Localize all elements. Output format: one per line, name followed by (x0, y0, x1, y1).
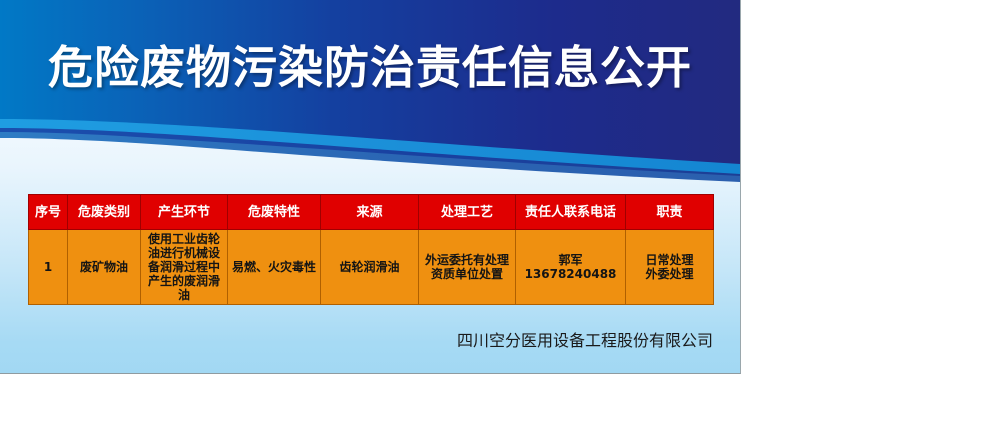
page-title: 危险废物污染防治责任信息公开 (0, 42, 740, 94)
cell-source: 齿轮润滑油 (321, 230, 419, 305)
hazardous-waste-table: 序号 危废类别 产生环节 危废特性 来源 处理工艺 责任人联系电话 职责 1 废… (28, 194, 714, 305)
column-header-seq: 序号 (29, 195, 68, 230)
company-name: 四川空分医用设备工程股份有限公司 (0, 327, 713, 351)
contact-person-phone: 13678240488 (518, 267, 623, 281)
column-header-source: 来源 (321, 195, 419, 230)
cell-contact: 郭军 13678240488 (516, 230, 626, 305)
column-header-property: 危废特性 (228, 195, 321, 230)
duty-line-1: 日常处理 (628, 253, 711, 267)
duty-line-2: 外委处理 (628, 267, 711, 281)
column-header-category: 危废类别 (68, 195, 141, 230)
column-header-contact: 责任人联系电话 (516, 195, 626, 230)
table-header-row: 序号 危废类别 产生环节 危废特性 来源 处理工艺 责任人联系电话 职责 (29, 195, 714, 230)
column-header-duty: 职责 (626, 195, 714, 230)
cell-process: 外运委托有处理资质单位处置 (419, 230, 516, 305)
table-row: 1 废矿物油 使用工业齿轮油进行机械设备润滑过程中产生的废润滑油 易燃、火灾毒性… (29, 230, 714, 305)
cell-category: 废矿物油 (68, 230, 141, 305)
column-header-stage: 产生环节 (141, 195, 228, 230)
cell-duty: 日常处理 外委处理 (626, 230, 714, 305)
header-banner: 危险废物污染防治责任信息公开 (0, 0, 740, 185)
column-header-process: 处理工艺 (419, 195, 516, 230)
cell-seq: 1 (29, 230, 68, 305)
contact-person-name: 郭军 (518, 253, 623, 267)
cell-stage: 使用工业齿轮油进行机械设备润滑过程中产生的废润滑油 (141, 230, 228, 305)
cell-property: 易燃、火灾毒性 (228, 230, 321, 305)
poster-board: 危险废物污染防治责任信息公开 序号 危废类别 产生环节 危废特性 来源 处理工艺… (0, 0, 741, 374)
